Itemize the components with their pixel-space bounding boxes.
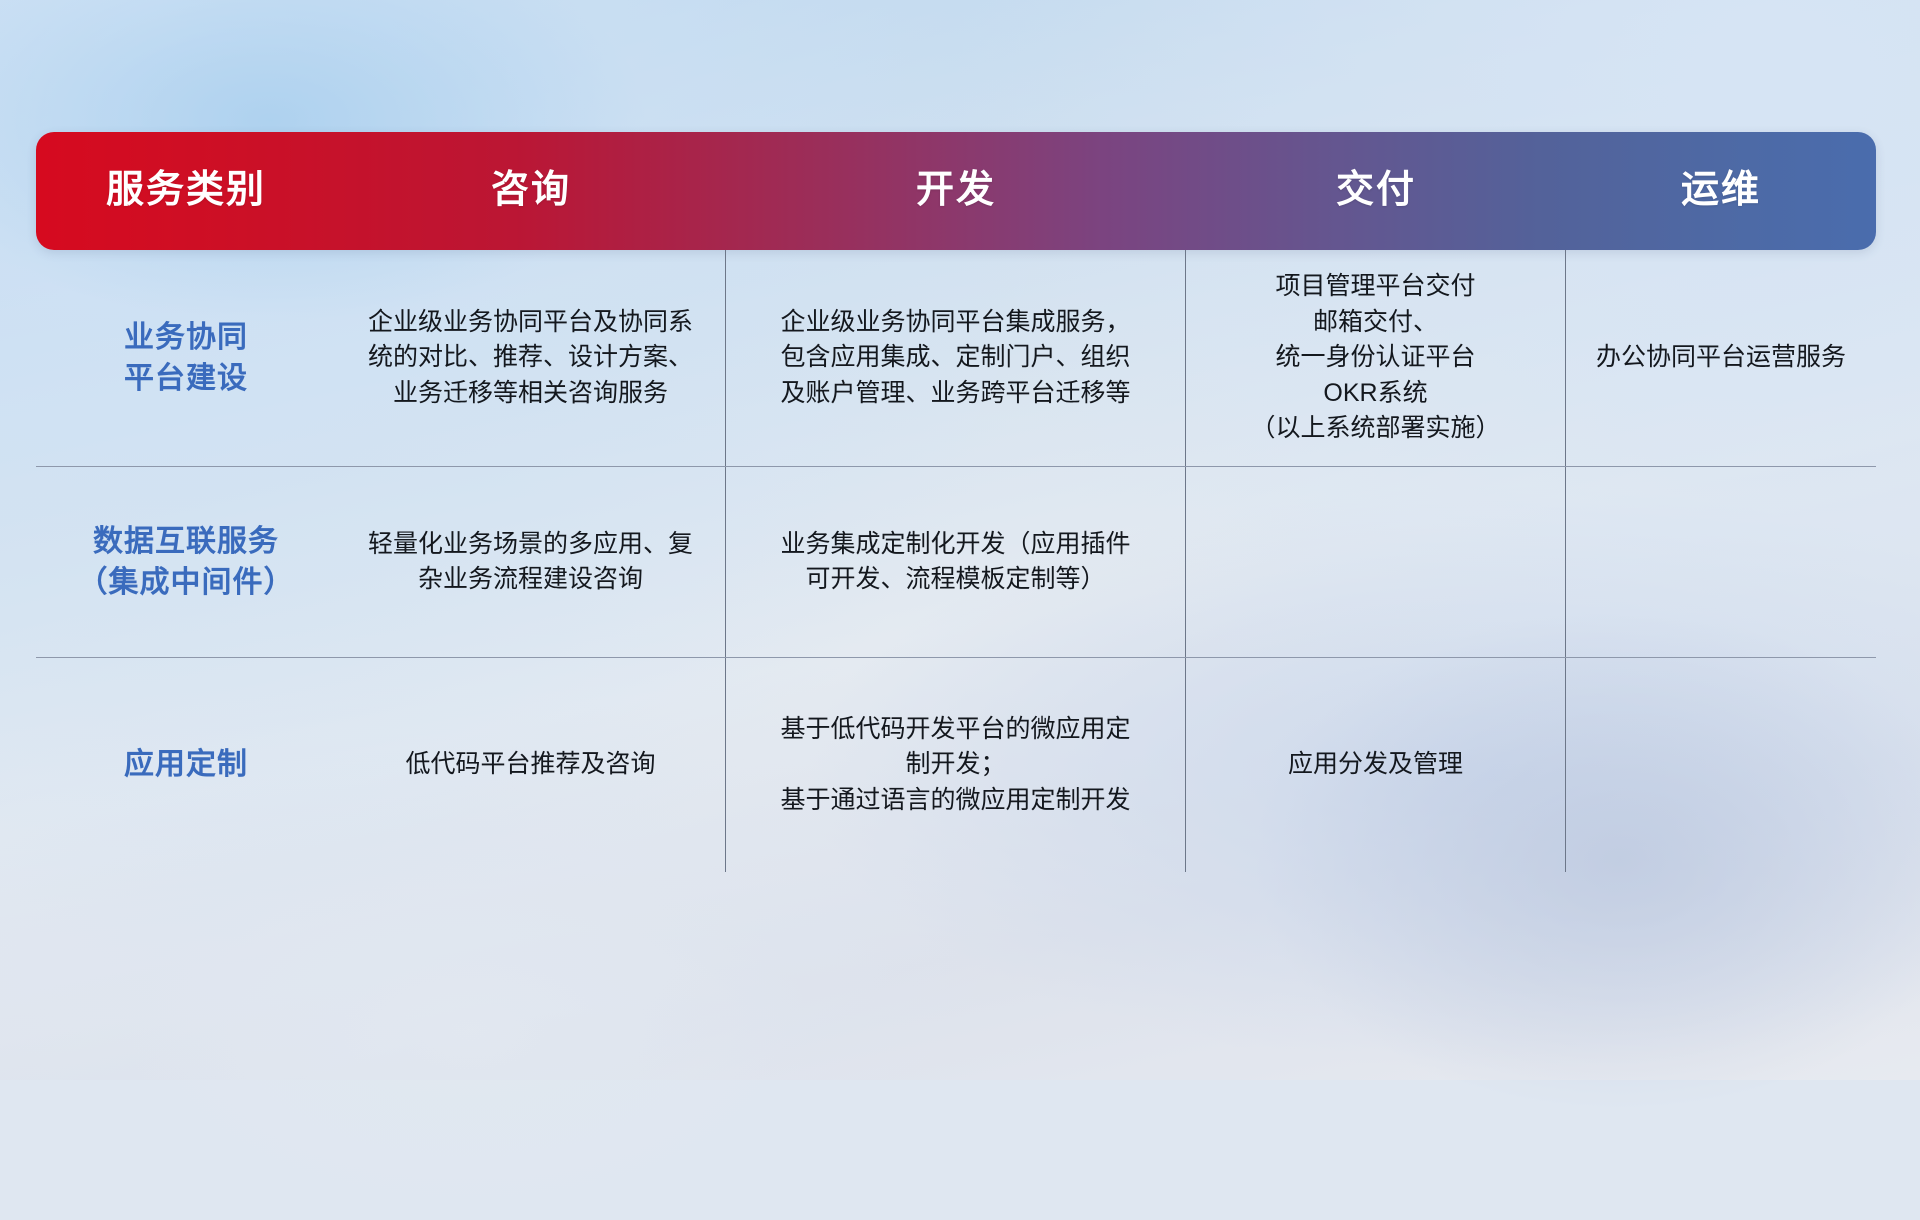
cell-category: 应用定制 bbox=[36, 658, 336, 872]
column-header-consulting: 咨询 bbox=[336, 170, 726, 212]
table-header-row: 服务类别 咨询 开发 交付 运维 bbox=[36, 132, 1876, 250]
cell-delivery: 应用分发及管理 bbox=[1186, 658, 1566, 872]
column-header-operations: 运维 bbox=[1566, 170, 1876, 212]
cell-operations bbox=[1566, 467, 1876, 657]
table-row: 业务协同 平台建设 企业级业务协同平台及协同系 统的对比、推荐、设计方案、 业务… bbox=[36, 250, 1876, 467]
cell-development: 基于低代码开发平台的微应用定 制开发； 基于通过语言的微应用定制开发 bbox=[726, 658, 1186, 872]
column-header-development: 开发 bbox=[726, 170, 1186, 212]
cell-consulting: 企业级业务协同平台及协同系 统的对比、推荐、设计方案、 业务迁移等相关咨询服务 bbox=[336, 250, 726, 466]
cell-consulting: 低代码平台推荐及咨询 bbox=[336, 658, 726, 872]
cell-delivery: 项目管理平台交付 邮箱交付、 统一身份认证平台 OKR系统 （以上系统部署实施） bbox=[1186, 250, 1566, 466]
cell-operations: 办公协同平台运营服务 bbox=[1566, 250, 1876, 466]
service-matrix-table: 服务类别 咨询 开发 交付 运维 业务协同 平台建设 企业级业务协同平台及协同系… bbox=[36, 132, 1876, 872]
cell-category: 数据互联服务 （集成中间件） bbox=[36, 467, 336, 657]
table-row: 数据互联服务 （集成中间件） 轻量化业务场景的多应用、复 杂业务流程建设咨询 业… bbox=[36, 467, 1876, 658]
column-header-category: 服务类别 bbox=[36, 170, 336, 212]
cell-operations bbox=[1566, 658, 1876, 872]
column-header-delivery: 交付 bbox=[1186, 170, 1566, 212]
cell-category: 业务协同 平台建设 bbox=[36, 250, 336, 466]
cell-consulting: 轻量化业务场景的多应用、复 杂业务流程建设咨询 bbox=[336, 467, 726, 657]
table-row: 应用定制 低代码平台推荐及咨询 基于低代码开发平台的微应用定 制开发； 基于通过… bbox=[36, 658, 1876, 872]
table-body: 业务协同 平台建设 企业级业务协同平台及协同系 统的对比、推荐、设计方案、 业务… bbox=[36, 250, 1876, 872]
cell-development: 企业级业务协同平台集成服务， 包含应用集成、定制门户、组织 及账户管理、业务跨平… bbox=[726, 250, 1186, 466]
cell-delivery bbox=[1186, 467, 1566, 657]
cell-development: 业务集成定制化开发（应用插件 可开发、流程模板定制等） bbox=[726, 467, 1186, 657]
